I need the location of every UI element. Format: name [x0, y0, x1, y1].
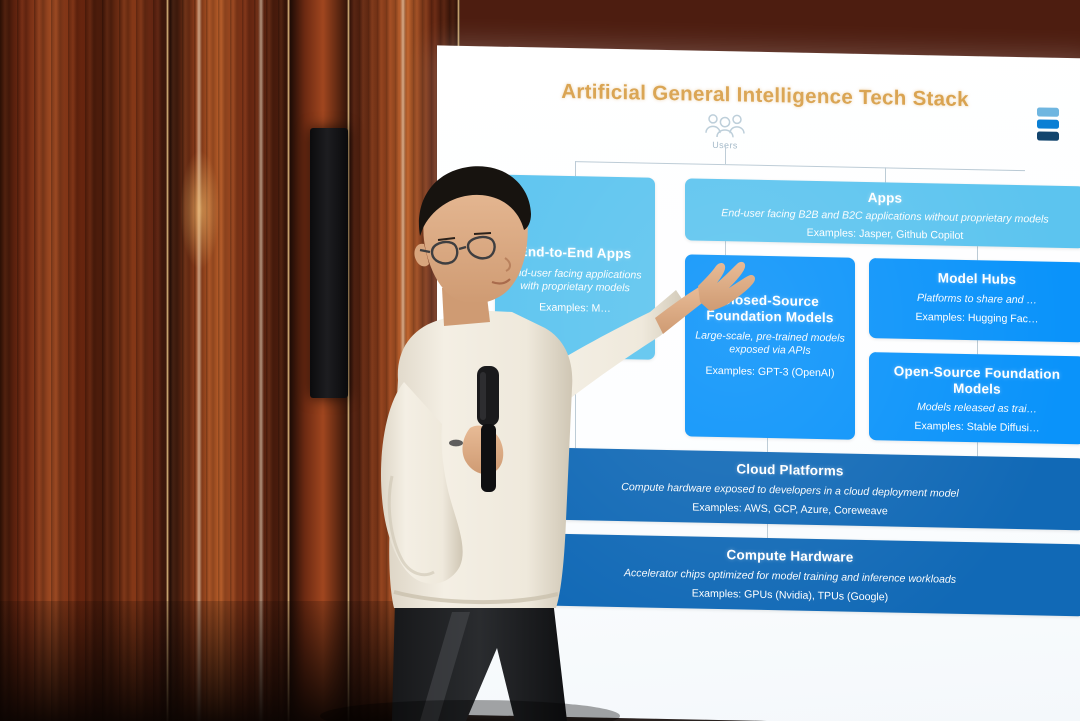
connector-apps-closed: [725, 241, 726, 255]
logo-bar-mid: [1037, 119, 1059, 128]
projection-screen: Artificial General Intelligence Tech Sta…: [437, 45, 1080, 721]
connector-e2e-cloud: [575, 358, 576, 448]
diagram-box-compute-hardware[interactable]: Compute Hardware Accelerator chips optim…: [495, 533, 1080, 617]
diagram-box-closed-source-foundation-models[interactable]: Closed-Source Foundation Models Large-sc…: [685, 254, 855, 439]
diagram-box-cloud-platforms[interactable]: Cloud Platforms Compute hardware exposed…: [495, 447, 1080, 531]
diagram-box-apps[interactable]: Apps End-user facing B2B and B2C applica…: [685, 178, 1080, 248]
connector-horizontal: [575, 161, 1025, 171]
wall-light-reflection: [180, 150, 220, 270]
box-description: End-user facing B2B and B2C applications…: [694, 206, 1076, 227]
diagram-box-end-to-end-apps[interactable]: End-to-End Apps End-user facing applicat…: [495, 175, 655, 360]
box-description: End-user facing applications with propri…: [504, 266, 646, 295]
connector-cloud-compute: [767, 524, 768, 538]
connector-closed-cloud: [767, 438, 768, 452]
box-description: Platforms to share and …: [878, 291, 1076, 308]
box-examples: Examples: Jasper, Github Copilot: [694, 224, 1076, 245]
photo-scene: Artificial General Intelligence Tech Sta…: [0, 0, 1080, 721]
connector-to-apps: [885, 167, 886, 182]
logo-bar-light: [1037, 107, 1059, 116]
three-bar-logo: [1037, 107, 1059, 143]
logo-bar-dark: [1037, 131, 1059, 140]
connector-users-down: [725, 146, 726, 164]
box-title: Closed-Source Foundation Models: [694, 292, 846, 326]
box-title: Open-Source Foundation Models: [878, 363, 1076, 398]
box-title: End-to-End Apps: [504, 244, 646, 262]
connector-hubs-open: [977, 340, 978, 354]
box-examples: Examples: GPT-3 (OpenAI): [694, 364, 846, 380]
slide-title: Artificial General Intelligence Tech Sta…: [505, 79, 1025, 113]
box-examples: Examples: Stable Diffusi…: [878, 419, 1076, 436]
diagram-box-open-source-foundation-models[interactable]: Open-Source Foundation Models Models rel…: [869, 352, 1080, 444]
box-title: Model Hubs: [878, 269, 1076, 288]
box-examples: Examples: M…: [504, 301, 646, 317]
users-icon: [702, 113, 748, 140]
box-description: Models released as trai…: [878, 400, 1076, 417]
connector-apps-hubs: [977, 246, 978, 260]
diagram-box-model-hubs[interactable]: Model Hubs Platforms to share and … Exam…: [869, 258, 1080, 342]
connector-to-e2e: [575, 161, 576, 176]
users-node: Users: [685, 112, 765, 151]
connector-open-cloud: [977, 442, 978, 456]
box-description: Large-scale, pre-trained models exposed …: [694, 330, 846, 360]
black-speaker-column: [310, 128, 348, 398]
box-examples: Examples: Hugging Fac…: [878, 310, 1076, 327]
